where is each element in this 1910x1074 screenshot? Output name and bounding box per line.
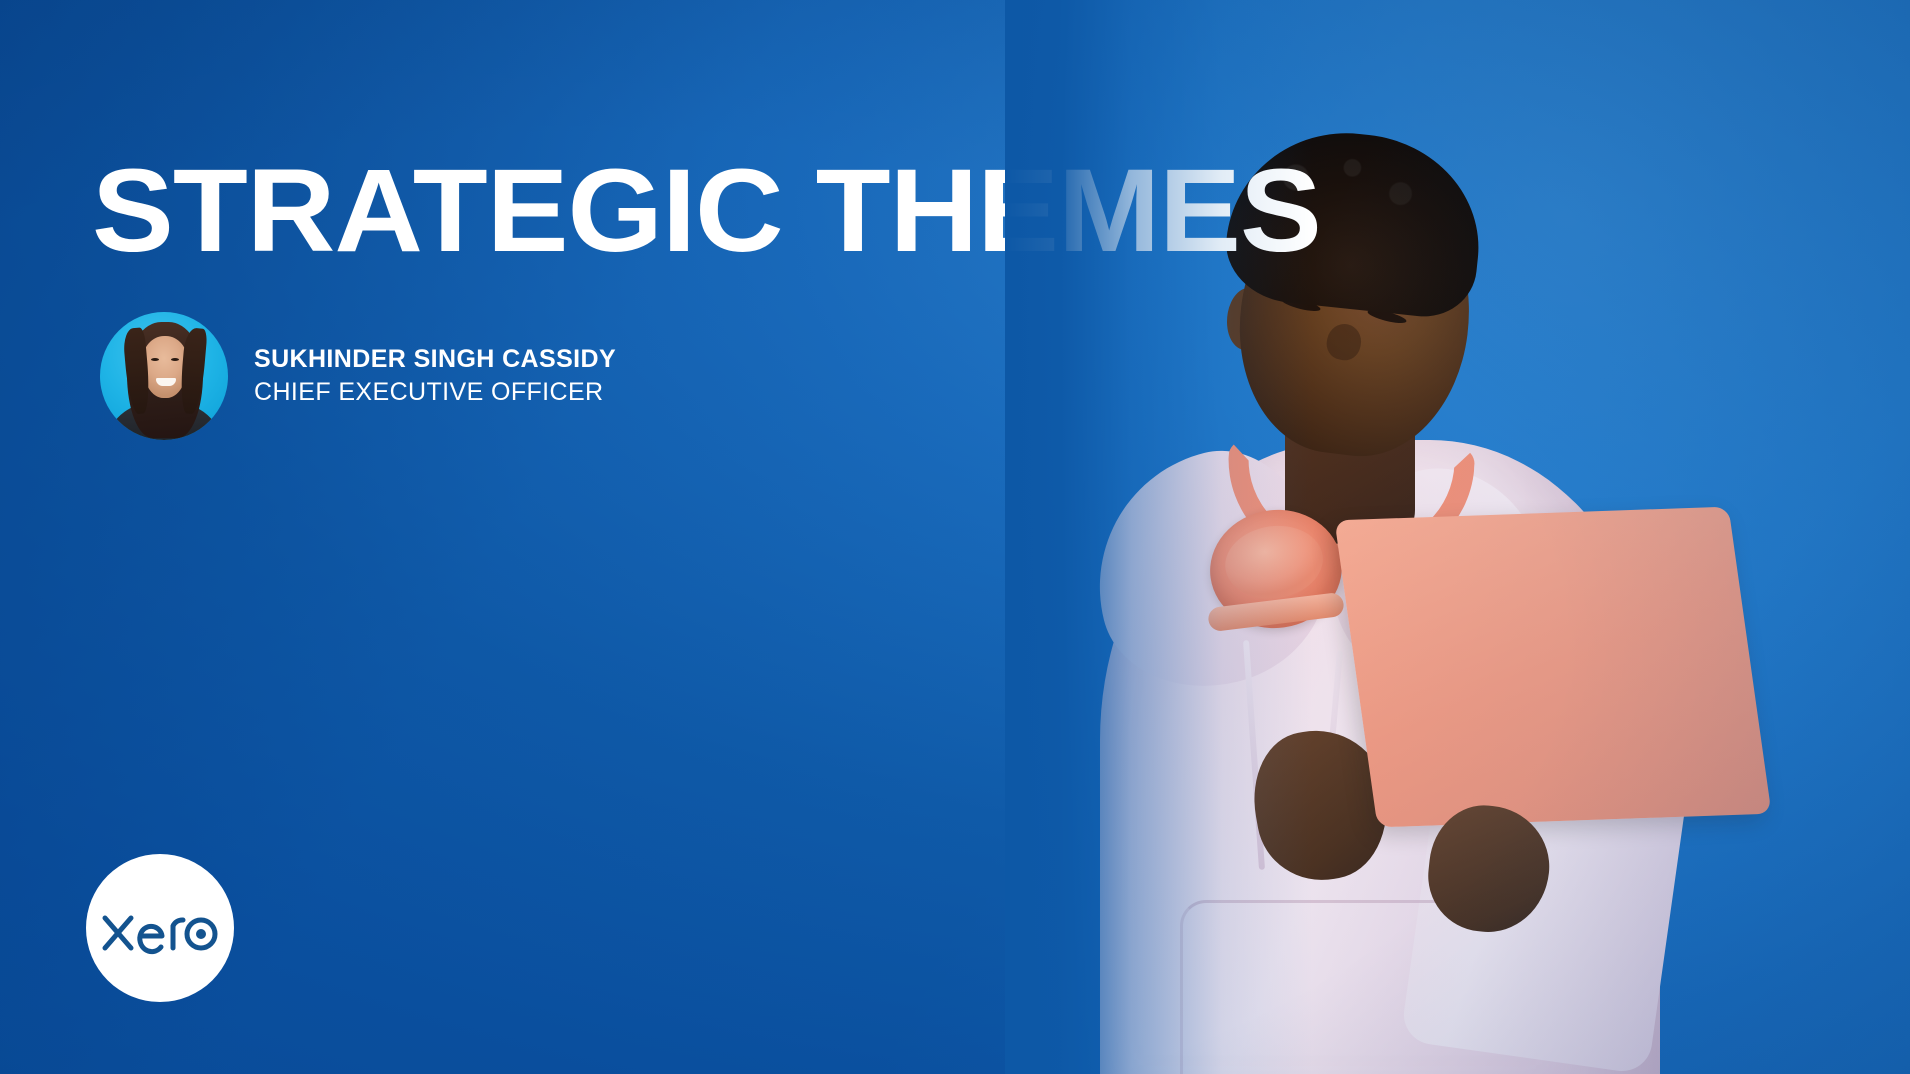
- speaker-name: SUKHINDER SINGH CASSIDY: [254, 345, 616, 374]
- avatar-eye-left: [151, 358, 159, 361]
- presentation-slide: STRATEGIC THEMES SUKHINDER SINGH CASSIDY…: [0, 0, 1910, 1074]
- avatar-eye-right: [171, 358, 179, 361]
- speaker-block: SUKHINDER SINGH CASSIDY CHIEF EXECUTIVE …: [100, 312, 616, 440]
- xero-logo: [86, 854, 234, 1002]
- avatar-smile: [156, 378, 176, 386]
- speaker-role: CHIEF EXECUTIVE OFFICER: [254, 378, 616, 407]
- speaker-text: SUKHINDER SINGH CASSIDY CHIEF EXECUTIVE …: [254, 345, 616, 407]
- xero-wordmark-icon: [101, 900, 219, 956]
- slide-title: STRATEGIC THEMES: [92, 152, 1321, 270]
- avatar: [100, 312, 228, 440]
